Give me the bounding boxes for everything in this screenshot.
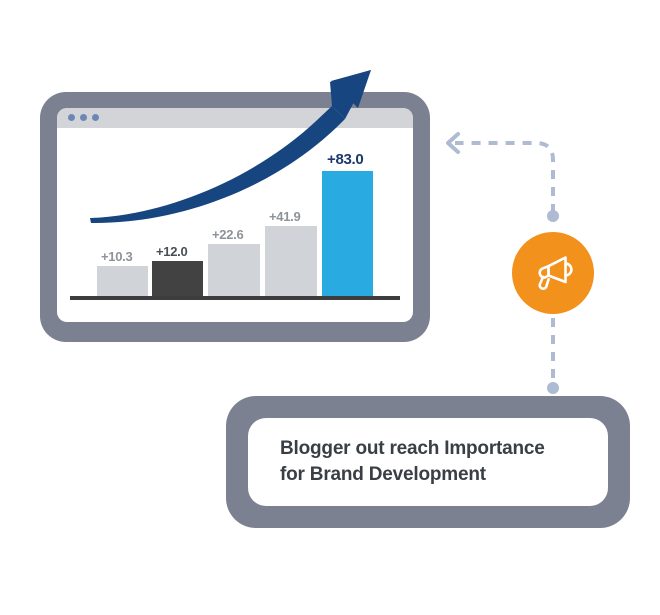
- caption-card: Blogger out reach Importance for Brand D…: [248, 418, 608, 506]
- caption-text: Blogger out reach Importance for Brand D…: [280, 436, 545, 487]
- connector-to-screen: [455, 143, 553, 213]
- caption-line-1: Blogger out reach Importance: [280, 436, 545, 462]
- megaphone-icon: [530, 250, 576, 296]
- caption-line-2: for Brand Development: [280, 462, 545, 488]
- infographic-canvas: +10.3 +12.0 +22.6 +41.9 +83.0: [0, 0, 660, 615]
- megaphone-badge[interactable]: [512, 232, 594, 314]
- connector-top-endpoint-dot: [547, 210, 559, 222]
- connector-bottom-endpoint-dot: [547, 382, 559, 394]
